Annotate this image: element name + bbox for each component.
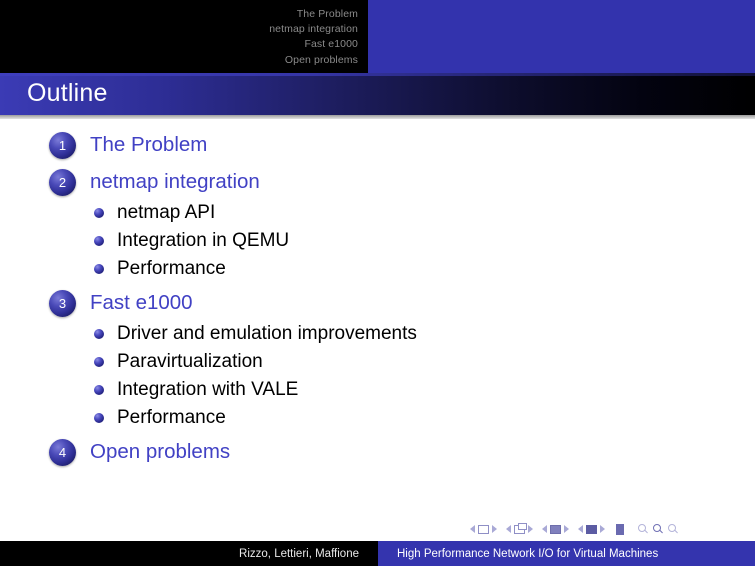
outline-subitem[interactable]: Performance (0, 255, 755, 283)
subitem-title: Integration with VALE (117, 379, 298, 401)
footer-author-zone: Rizzo, Lettieri, Maffione (0, 541, 378, 566)
frame-stack-icon[interactable] (514, 525, 525, 534)
zoom-back-icon[interactable] (638, 524, 649, 535)
header-nav-item-3[interactable]: Open problems (0, 53, 358, 68)
section-icon[interactable] (586, 525, 597, 534)
bullet-icon (94, 329, 104, 339)
section-number-label: 1 (49, 132, 76, 159)
outline-subitem[interactable]: netmap API (0, 199, 755, 227)
slide-nav-group[interactable] (470, 525, 497, 534)
zoom-icon[interactable] (653, 524, 664, 535)
document-icon[interactable] (616, 524, 624, 535)
footer-title: High Performance Network I/O for Virtual… (397, 548, 658, 560)
title-bar: Outline (0, 73, 755, 115)
section-number-badge: 4 (49, 439, 76, 466)
footer-author: Rizzo, Lettieri, Maffione (239, 548, 359, 560)
section-number-label: 3 (49, 290, 76, 317)
outline-subitem[interactable]: Driver and emulation improvements (0, 320, 755, 348)
section-title: Fast e1000 (90, 291, 193, 315)
outline-subitem[interactable]: Integration with VALE (0, 376, 755, 404)
header-nav-item-0[interactable]: The Problem (0, 7, 358, 22)
subitem-title: Paravirtualization (117, 351, 263, 373)
beamer-navigation-symbols[interactable] (470, 521, 750, 537)
prev-slide-icon[interactable] (470, 525, 475, 533)
outline-section: 1 The Problem (0, 128, 755, 162)
subitem-title: netmap API (117, 202, 215, 224)
zoom-forward-icon[interactable] (668, 524, 679, 535)
slide-footer: Rizzo, Lettieri, Maffione High Performan… (0, 541, 755, 566)
subitem-title: Integration in QEMU (117, 230, 289, 252)
outline-section-header[interactable]: 4 Open problems (0, 435, 755, 469)
section-title: The Problem (90, 133, 207, 157)
subitem-title: Performance (117, 258, 226, 280)
outline-content: 1 The Problem 2 netmap integration netma… (0, 128, 755, 472)
outline-subitem[interactable]: Performance (0, 404, 755, 432)
outline-section-header[interactable]: 2 netmap integration (0, 165, 755, 199)
bullet-icon (94, 236, 104, 246)
outline-section-header[interactable]: 3 Fast e1000 (0, 286, 755, 320)
subitem-title: Performance (117, 407, 226, 429)
prev-subsection-icon[interactable] (542, 525, 547, 533)
header-navigation-panel: The Problem netmap integration Fast e100… (0, 0, 368, 73)
next-section-icon[interactable] (600, 525, 605, 533)
section-number-label: 2 (49, 169, 76, 196)
bullet-icon (94, 385, 104, 395)
subsection-icon[interactable] (550, 525, 561, 534)
section-number-badge: 2 (49, 169, 76, 196)
header-nav-item-1[interactable]: netmap integration (0, 22, 358, 37)
outline-section: 4 Open problems (0, 435, 755, 469)
bullet-icon (94, 264, 104, 274)
outline-subitem[interactable]: Paravirtualization (0, 348, 755, 376)
bullet-icon (94, 357, 104, 367)
prev-section-icon[interactable] (578, 525, 583, 533)
outline-section: 2 netmap integration netmap API Integrat… (0, 165, 755, 283)
bullet-icon (94, 208, 104, 218)
prev-frame-icon[interactable] (506, 525, 511, 533)
section-number-label: 4 (49, 439, 76, 466)
section-title: Open problems (90, 440, 230, 464)
section-title: netmap integration (90, 170, 260, 194)
header-nav-item-2[interactable]: Fast e1000 (0, 37, 358, 52)
outline-subitem[interactable]: Integration in QEMU (0, 227, 755, 255)
footer-title-zone: High Performance Network I/O for Virtual… (378, 541, 755, 566)
subsection-nav-group[interactable] (542, 525, 569, 534)
next-subsection-icon[interactable] (564, 525, 569, 533)
section-nav-group[interactable] (578, 525, 605, 534)
title-bar-top-accent (0, 73, 755, 76)
frame-nav-group[interactable] (506, 525, 533, 534)
section-number-badge: 3 (49, 290, 76, 317)
outline-section: 3 Fast e1000 Driver and emulation improv… (0, 286, 755, 432)
bullet-icon (94, 413, 104, 423)
title-bar-underline (0, 115, 755, 119)
next-slide-icon[interactable] (492, 525, 497, 533)
subitem-title: Driver and emulation improvements (117, 323, 417, 345)
section-number-badge: 1 (49, 132, 76, 159)
outline-section-header[interactable]: 1 The Problem (0, 128, 755, 162)
page-title: Outline (27, 79, 108, 108)
slide-icon[interactable] (478, 525, 489, 534)
next-frame-icon[interactable] (528, 525, 533, 533)
slide-header: The Problem netmap integration Fast e100… (0, 0, 755, 73)
